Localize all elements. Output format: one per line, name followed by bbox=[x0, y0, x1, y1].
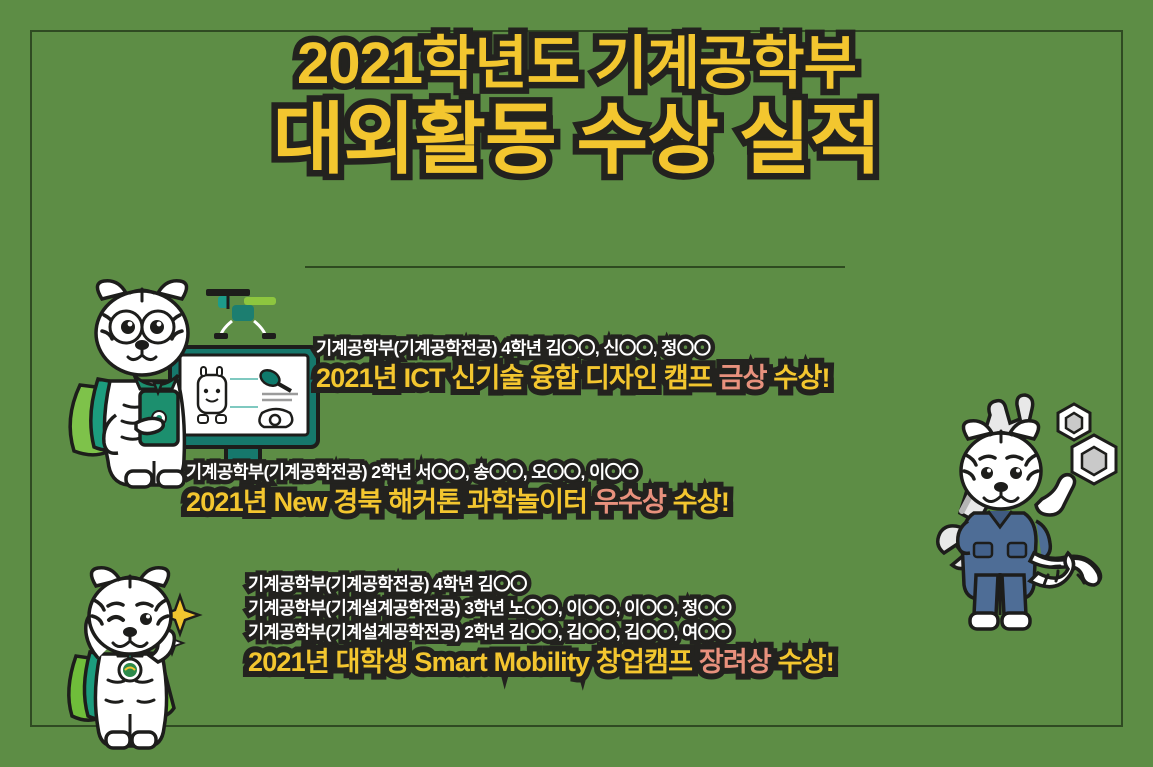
entry-3-award-title: 2021년 대학생 Smart Mobility 창업캠프 장려상 수상! bbox=[248, 646, 834, 680]
mechanic-tiger-illustration bbox=[930, 395, 1135, 640]
entry-1-award-prefix: 2021년 ICT 신기술 융합 디자인 캠프 bbox=[316, 363, 719, 393]
hex-nut-icons bbox=[1058, 404, 1116, 484]
entry-3-prize: 장려상 bbox=[699, 647, 771, 677]
title-divider bbox=[305, 266, 845, 268]
entry-2-award-title: 2021년 New 경북 해커톤 과학놀이터 우수상 수상! bbox=[186, 486, 729, 520]
poster-title: 2021학년도 기계공학부 대외활동 수상 실적 bbox=[0, 34, 1153, 181]
entry-3-award-prefix: 2021년 대학생 Smart Mobility 창업캠프 bbox=[248, 647, 699, 677]
cheer-tiger-illustration bbox=[52, 558, 227, 758]
tiger-body bbox=[70, 375, 184, 487]
computer-monitor-icon bbox=[170, 347, 318, 471]
entry-2-award-prefix: 2021년 New 경북 해커톤 과학놀이터 bbox=[186, 487, 594, 517]
entry-3-member-line-3: 기계공학부(기계설계공학전공) 2학년 김〇〇, 김〇〇, 김〇〇, 여〇〇 bbox=[248, 620, 834, 644]
entry-2-prize: 우수상 bbox=[594, 487, 666, 517]
award-entry-3: 기계공학부(기계공학전공) 4학년 김〇〇 기계공학부(기계설계공학전공) 3학… bbox=[248, 572, 834, 680]
scientist-tiger-illustration bbox=[58, 275, 318, 490]
entry-1-member-line-1: 기계공학부(기계공학전공) 4학년 김〇〇, 신〇〇, 정〇〇 bbox=[316, 336, 830, 360]
tiger-head bbox=[89, 568, 171, 654]
tiger-head bbox=[96, 281, 188, 375]
entry-1-prize: 금상 bbox=[719, 363, 767, 393]
entry-1-award-title: 2021년 ICT 신기술 융합 디자인 캠프 금상 수상! bbox=[316, 362, 830, 396]
poster-canvas: 2021학년도 기계공학부 대외활동 수상 실적 bbox=[0, 0, 1153, 767]
title-line-1: 2021학년도 기계공학부 bbox=[0, 34, 1153, 95]
tiger-head bbox=[961, 421, 1041, 509]
entry-2-award-suffix: 수상! bbox=[666, 487, 729, 517]
entry-3-member-line-1: 기계공학부(기계공학전공) 4학년 김〇〇 bbox=[248, 572, 834, 596]
entry-3-award-suffix: 수상! bbox=[771, 647, 834, 677]
entry-3-member-line-2: 기계공학부(기계설계공학전공) 3학년 노〇〇, 이〇〇, 이〇〇, 정〇〇 bbox=[248, 596, 834, 620]
title-line-2: 대외활동 수상 실적 bbox=[0, 99, 1153, 181]
entry-2-member-line-1: 기계공학부(기계공학전공) 2학년 서〇〇, 송〇〇, 오〇〇, 이〇〇 bbox=[186, 460, 729, 484]
drone-icon bbox=[206, 289, 276, 339]
award-entry-1: 기계공학부(기계공학전공) 4학년 김〇〇, 신〇〇, 정〇〇 2021년 IC… bbox=[316, 336, 830, 396]
award-entry-2: 기계공학부(기계공학전공) 2학년 서〇〇, 송〇〇, 오〇〇, 이〇〇 202… bbox=[186, 460, 729, 520]
entry-1-award-suffix: 수상! bbox=[767, 363, 830, 393]
